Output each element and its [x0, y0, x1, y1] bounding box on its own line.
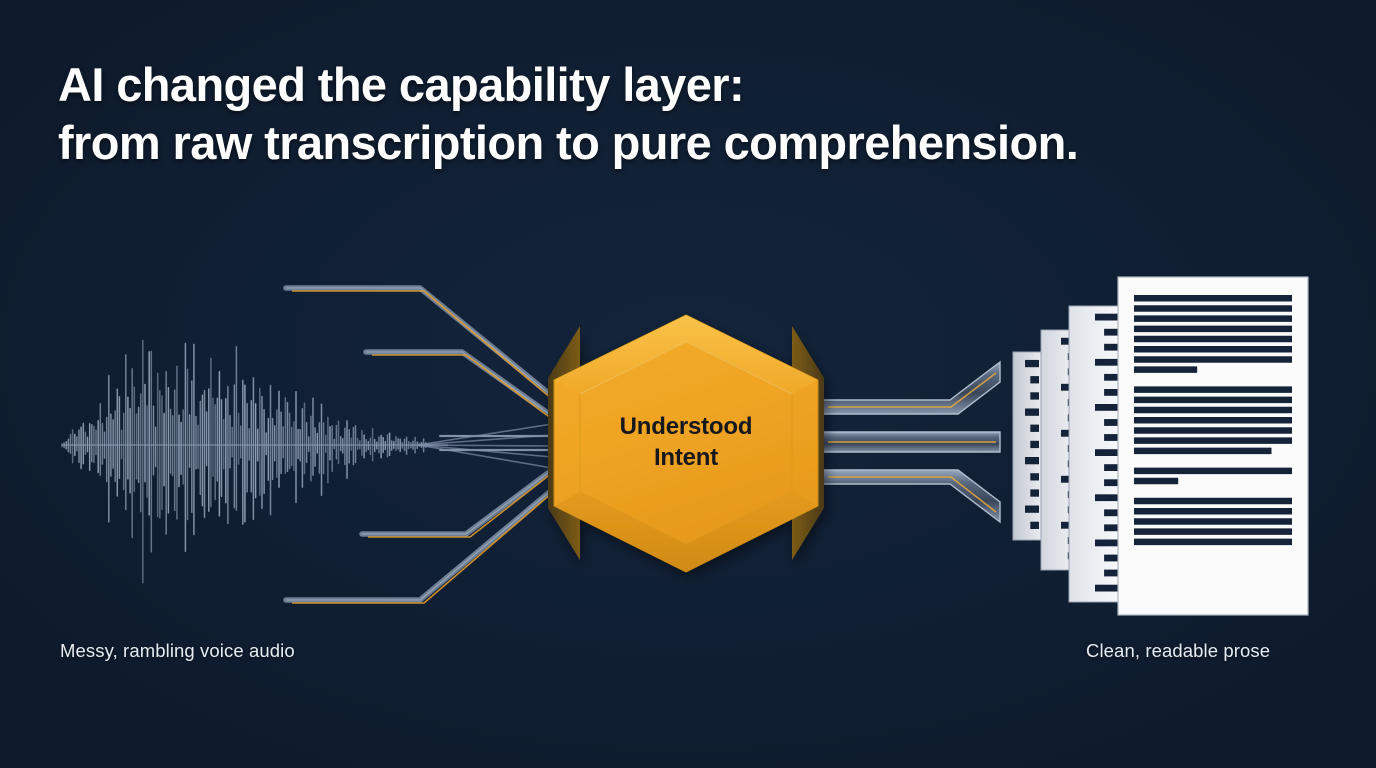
- ribbon-trace-middle: [823, 432, 1000, 452]
- output-circuit-traces: [823, 362, 1000, 522]
- caption-input: Messy, rambling voice audio: [60, 640, 295, 662]
- hexagon-node[interactable]: [548, 315, 824, 572]
- infographic-canvas: AI changed the capability layer: from ra…: [0, 0, 1376, 768]
- document-stack-panels: [1013, 306, 1121, 602]
- document-page[interactable]: [1118, 277, 1308, 615]
- ribbon-trace-upper: [823, 362, 1000, 414]
- audio-waveform: [62, 340, 448, 582]
- ribbon-trace-lower: [823, 470, 1000, 522]
- caption-output: Clean, readable prose: [1086, 640, 1270, 662]
